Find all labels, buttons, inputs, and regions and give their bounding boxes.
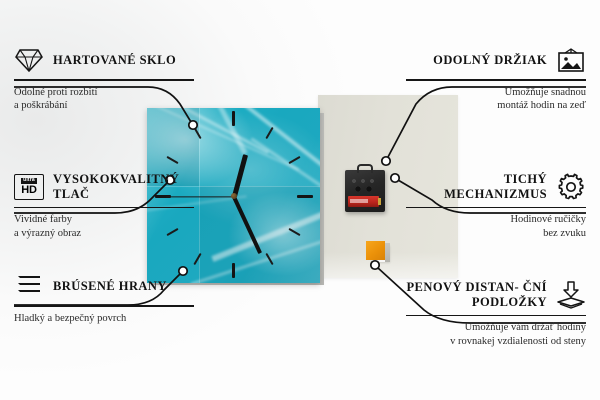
feature-title: TICHÝ MECHANIZMUS xyxy=(406,172,547,202)
feature-title: ODOLNÝ DRŽIAK xyxy=(406,53,547,68)
feature-description: Hladký a bezpečný povrch xyxy=(14,312,194,326)
feature-header: BRÚSENÉ HRANY xyxy=(14,272,194,300)
feature-description: Umožňuje vám držať hodiny v rovnakej vzd… xyxy=(406,321,586,349)
feature-title: VYSOKOKVALITNÝ TLAČ xyxy=(53,172,194,202)
movement-hanger xyxy=(357,164,373,173)
feature-high-quality-print: ultra HD VYSOKOKVALITNÝ TLAČ Vividné far… xyxy=(14,172,194,241)
feature-silent-mechanism: TICHÝ MECHANIZMUS Hodinové ručičky bez z… xyxy=(406,172,586,241)
feature-title: HARTOVANÉ SKLO xyxy=(53,53,194,68)
feature-divider xyxy=(14,305,194,307)
clock-hand-hub xyxy=(231,193,237,199)
gear-icon xyxy=(556,173,586,201)
hour-tick-12 xyxy=(232,111,235,126)
ultra-hd-icon-top-text: ultra xyxy=(21,178,37,184)
feature-divider xyxy=(14,79,194,81)
hour-tick-3 xyxy=(297,195,313,198)
feature-description: Hodinové ručičky bez zvuku xyxy=(406,213,586,241)
hour-tick-6 xyxy=(232,263,235,278)
feature-header: ODOLNÝ DRŽIAK xyxy=(406,46,586,74)
feature-divider xyxy=(406,79,586,81)
stacked-pads-arrow-icon xyxy=(556,281,586,309)
feature-divider xyxy=(14,207,194,209)
feature-title: PENOVÝ DISTAN- ČNÍ PODLOŽKY xyxy=(406,280,547,310)
beveled-edges-icon xyxy=(14,272,44,300)
foam-spacer-pad xyxy=(366,241,385,260)
feature-description: Umožňuje snadnou montáž hodin na zeď xyxy=(406,86,586,114)
infographic-canvas: HARTOVANÉ SKLO Odolné proti rozbití a po… xyxy=(0,0,600,400)
feature-header: PENOVÝ DISTAN- ČNÍ PODLOŽKY xyxy=(406,280,586,310)
feature-beveled-edges: BRÚSENÉ HRANY Hladký a bezpečný povrch xyxy=(14,272,194,325)
foam-pad-side xyxy=(385,243,390,262)
picture-frame-icon xyxy=(556,46,586,74)
feature-description: Odolné proti rozbití a poškrábání xyxy=(14,86,194,114)
quartz-movement xyxy=(345,170,385,212)
feature-header: ultra HD VYSOKOKVALITNÝ TLAČ xyxy=(14,172,194,202)
ultra-hd-icon: ultra HD xyxy=(14,173,44,201)
feature-divider xyxy=(406,315,586,317)
movement-detail xyxy=(350,178,380,192)
feature-divider xyxy=(406,207,586,209)
feature-description: Vividné farby a výrazný obraz xyxy=(14,213,194,241)
battery xyxy=(348,196,379,207)
feature-durable-holder: ODOLNÝ DRŽIAK Umožňuje snadnou montáž ho… xyxy=(406,46,586,113)
battery-terminal xyxy=(378,198,381,205)
feature-tempered-glass: HARTOVANÉ SKLO Odolné proti rozbití a po… xyxy=(14,46,194,113)
battery-label xyxy=(350,199,368,203)
feature-header: TICHÝ MECHANIZMUS xyxy=(406,172,586,202)
diamond-icon xyxy=(14,46,44,74)
feature-header: HARTOVANÉ SKLO xyxy=(14,46,194,74)
feature-title: BRÚSENÉ HRANY xyxy=(53,279,194,294)
feature-foam-spacers: PENOVÝ DISTAN- ČNÍ PODLOŽKY Umožňuje vám… xyxy=(406,280,586,349)
ultra-hd-icon-main-text: HD xyxy=(21,185,37,196)
